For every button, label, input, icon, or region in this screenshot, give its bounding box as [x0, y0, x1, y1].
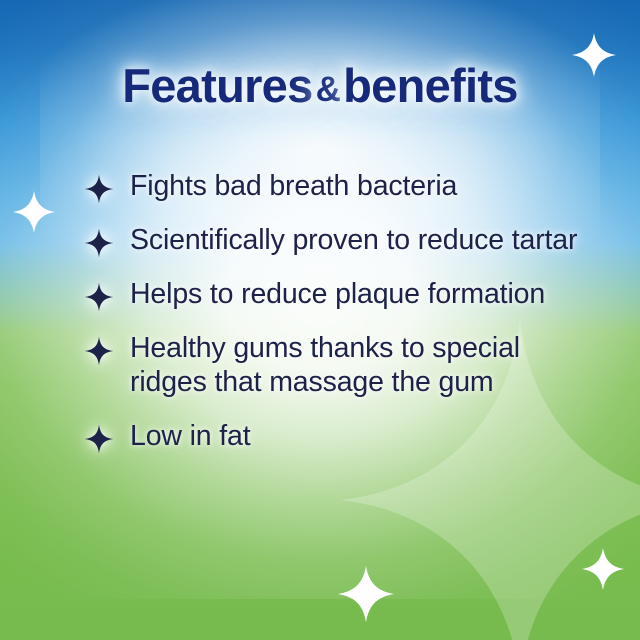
sparkle-icon	[84, 172, 114, 206]
list-item-label: Fights bad breath bacteria	[130, 170, 457, 204]
list-item-label: Helps to reduce plaque formation	[130, 278, 545, 312]
list-item-label: Healthy gums thanks to special ridges th…	[130, 332, 600, 400]
list-item-label: Scientifically proven to reduce tartar	[130, 224, 577, 258]
sparkle-icon	[84, 334, 114, 368]
list-item: Scientifically proven to reduce tartar	[84, 224, 600, 258]
title-ampersand: &	[313, 70, 344, 109]
title-word-benefits: benefits	[343, 59, 518, 112]
sparkle-icon	[84, 226, 114, 260]
list-item: Fights bad breath bacteria	[84, 170, 600, 204]
list-item: Low in fat	[84, 420, 600, 454]
list-item-label: Low in fat	[130, 420, 251, 454]
list-item: Helps to reduce plaque formation	[84, 278, 600, 312]
feature-benefits-poster: Features&benefits Fights bad breath bact…	[0, 0, 640, 640]
poster-content: Features&benefits Fights bad breath bact…	[0, 0, 640, 640]
sparkle-icon	[84, 422, 114, 456]
list-item: Healthy gums thanks to special ridges th…	[84, 332, 600, 400]
page-title: Features&benefits	[0, 58, 640, 113]
sparkle-icon	[84, 280, 114, 314]
benefits-list: Fights bad breath bacteria Scientificall…	[84, 170, 600, 454]
title-word-features: Features	[122, 59, 312, 112]
